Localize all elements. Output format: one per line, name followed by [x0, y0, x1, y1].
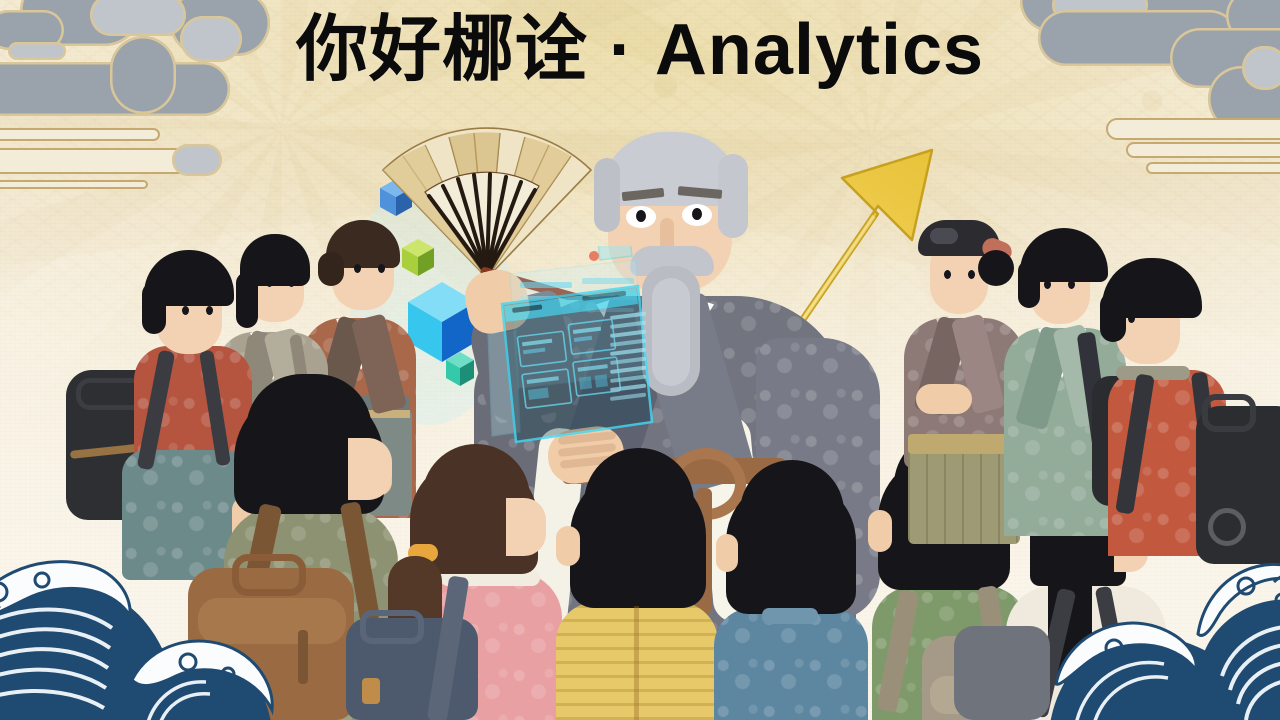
analytics-dashboard-hologram[interactable] — [486, 246, 666, 458]
student-boy-rust-shirt-right — [1092, 258, 1280, 558]
blue-shirt — [714, 608, 868, 720]
sage-eye-right — [692, 208, 702, 220]
sage-eye-left — [636, 210, 646, 222]
illustration-canvas: 你好梛诠 · Analytics — [0, 0, 1280, 720]
wave-bottom-right — [1010, 524, 1280, 720]
page-title: 你好梛诠 · Analytics — [0, 14, 1280, 86]
wave-bottom-left — [0, 520, 400, 720]
